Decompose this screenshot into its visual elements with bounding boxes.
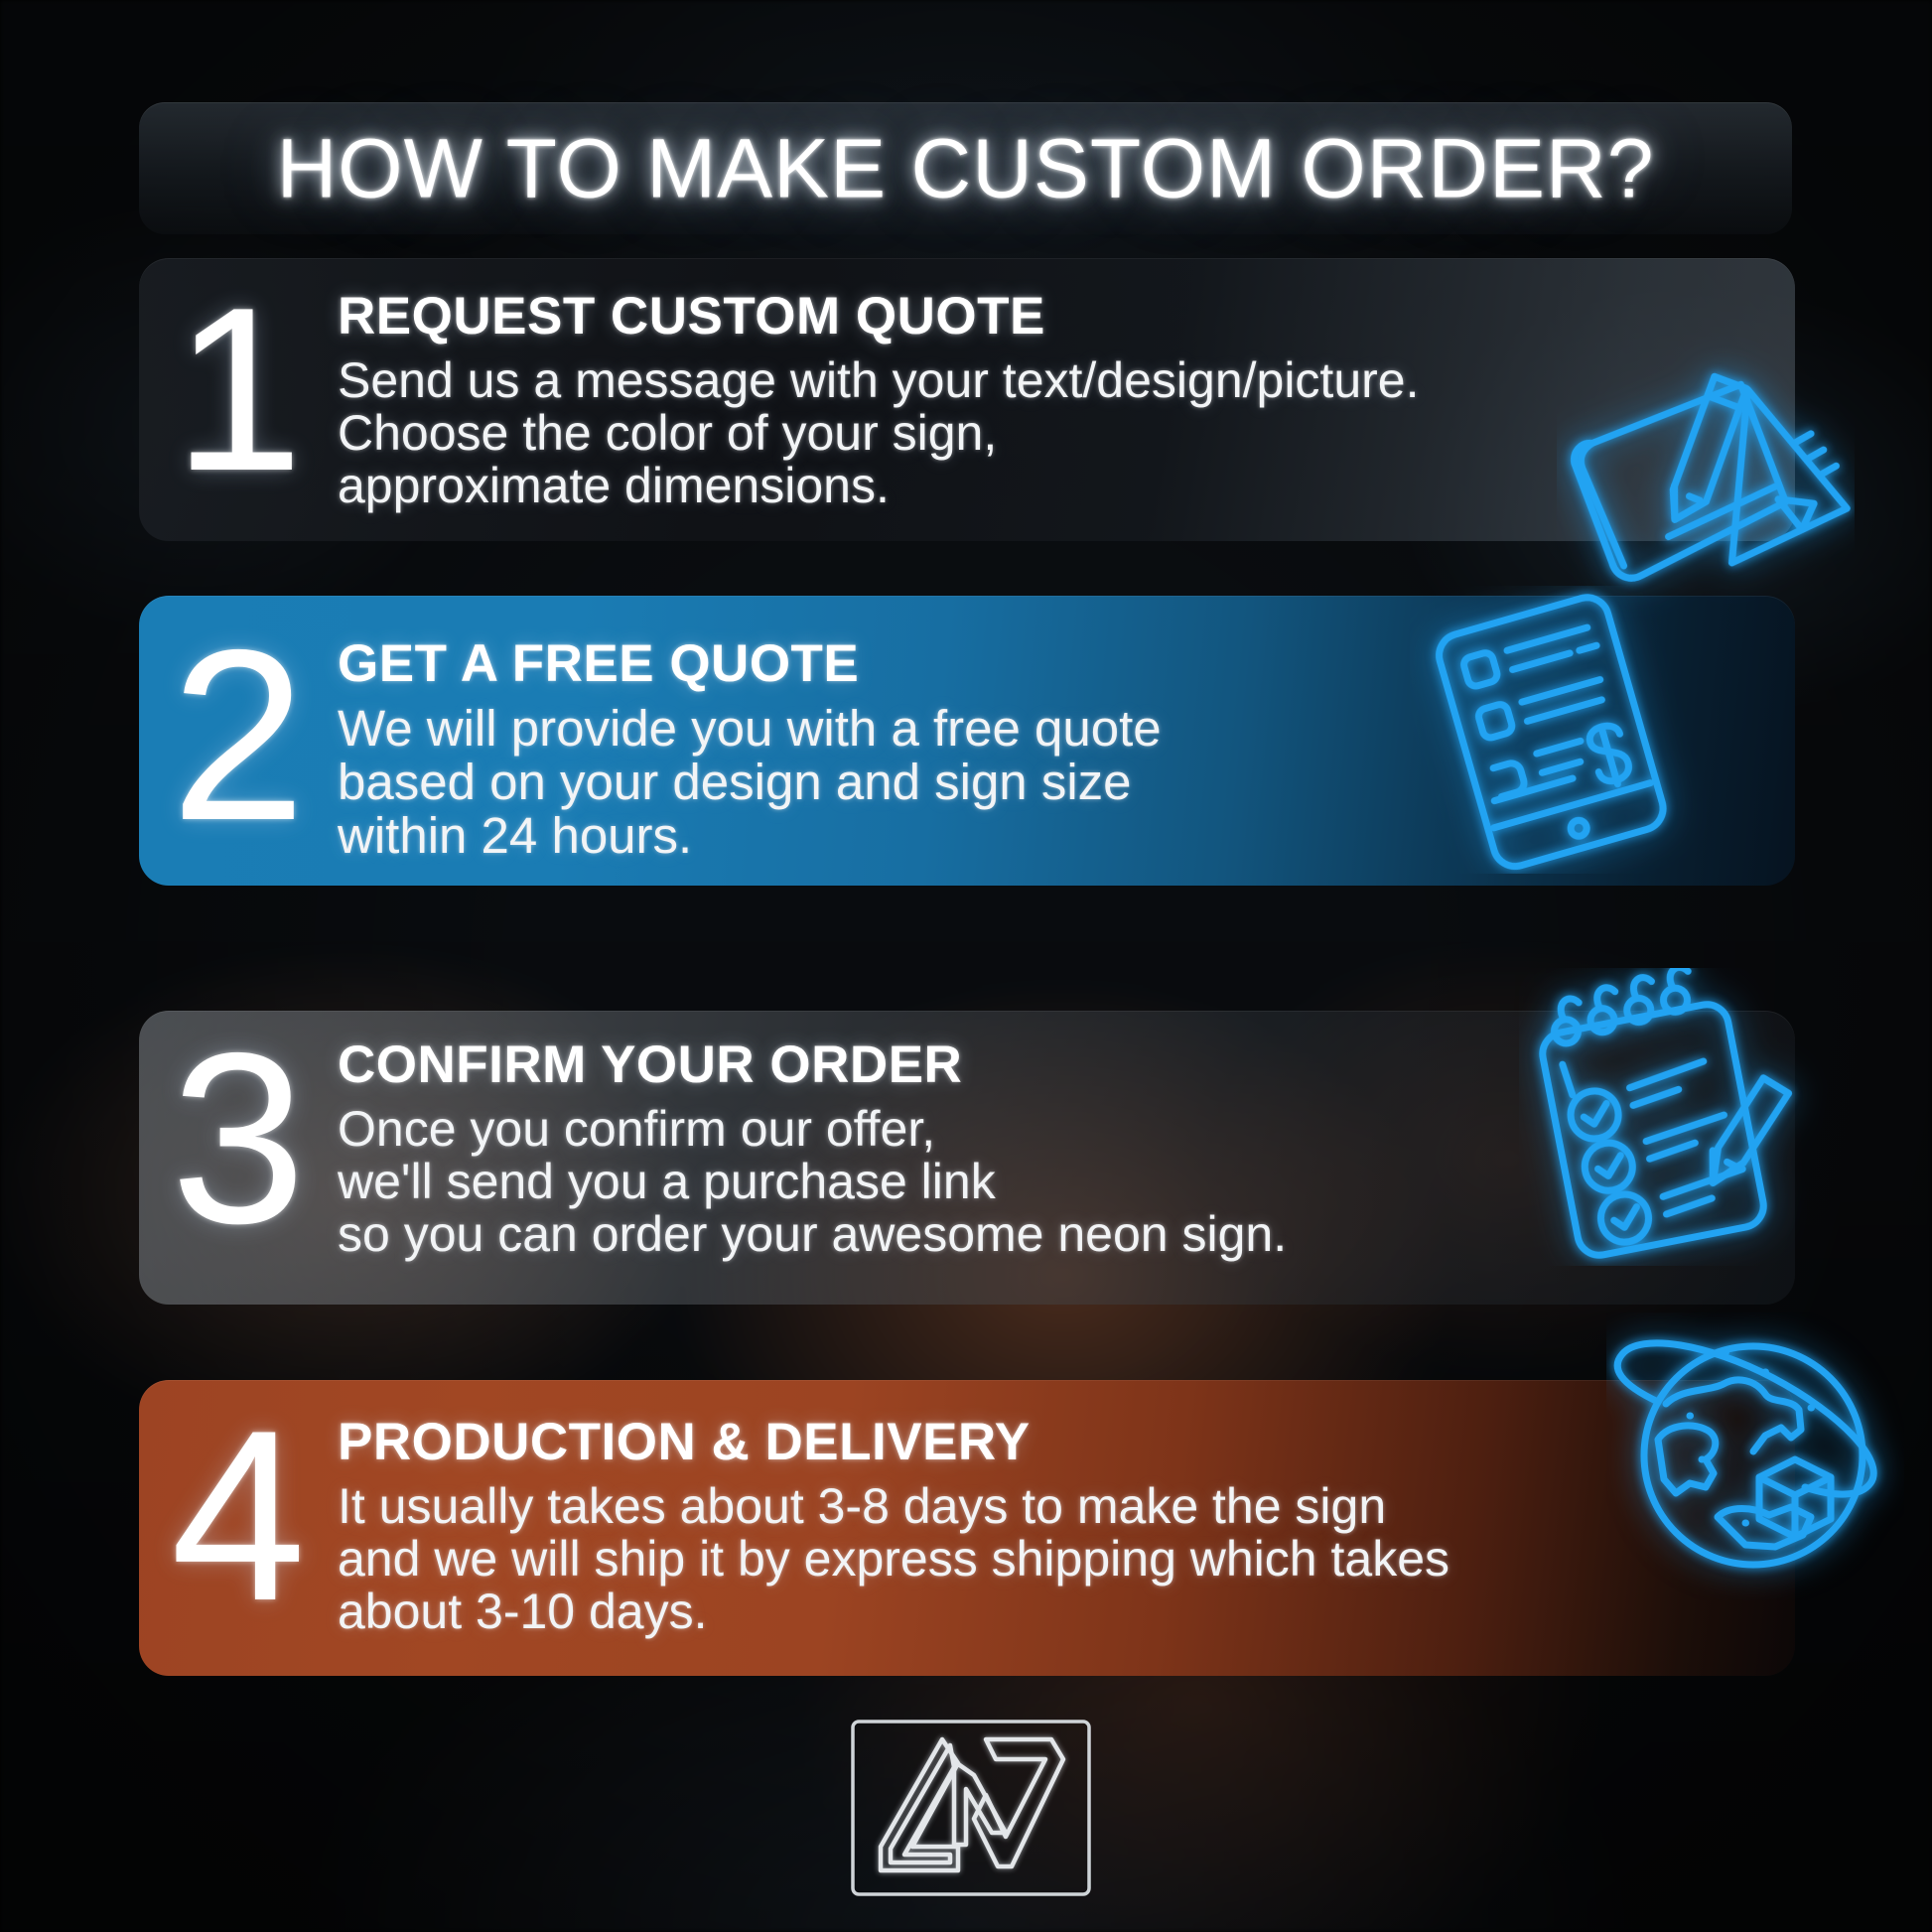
brand-logo bbox=[847, 1716, 1095, 1900]
step-card-2[interactable]: 2 GET A FREE QUOTE We will provide you w… bbox=[139, 596, 1795, 886]
infographic-frame: HOW TO MAKE CUSTOM ORDER? 1 REQUEST CUST… bbox=[0, 0, 1932, 1932]
step-number-2: 2 bbox=[139, 596, 338, 857]
step-card-1[interactable]: 1 REQUEST CUSTOM QUOTE Send us a message… bbox=[139, 258, 1795, 541]
page-title-card: HOW TO MAKE CUSTOM ORDER? bbox=[139, 102, 1792, 234]
step-title-2: GET A FREE QUOTE bbox=[338, 633, 1765, 694]
step-title-1: REQUEST CUSTOM QUOTE bbox=[338, 286, 1765, 346]
step-number-1: 1 bbox=[139, 258, 338, 505]
step-card-3[interactable]: 3 CONFIRM YOUR ORDER Once you confirm ou… bbox=[139, 1011, 1795, 1305]
step-description-4: It usually takes about 3-8 days to make … bbox=[338, 1480, 1765, 1638]
step-title-3: CONFIRM YOUR ORDER bbox=[338, 1035, 1765, 1095]
step-description-1: Send us a message with your text/design/… bbox=[338, 354, 1765, 512]
step-description-3: Once you confirm our offer, we'll send y… bbox=[338, 1103, 1765, 1261]
step-number-3: 3 bbox=[139, 1011, 338, 1260]
page-title: HOW TO MAKE CUSTOM ORDER? bbox=[139, 120, 1792, 216]
step-card-4[interactable]: 4 PRODUCTION & DELIVERY It usually takes… bbox=[139, 1380, 1795, 1676]
step-number-4: 4 bbox=[139, 1380, 338, 1637]
step-title-4: PRODUCTION & DELIVERY bbox=[338, 1412, 1765, 1472]
step-description-2: We will provide you with a free quote ba… bbox=[338, 702, 1765, 863]
